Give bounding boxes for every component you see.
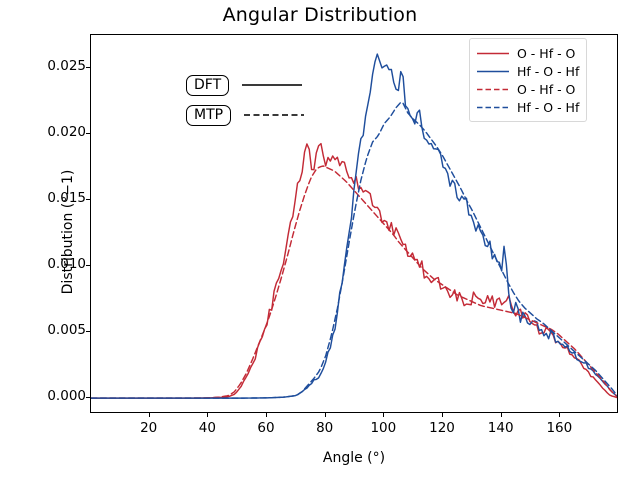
legend-line-swatch [476, 101, 510, 114]
legend-label: O - Hf - O [517, 82, 575, 97]
method-line-swatch [243, 109, 305, 121]
y-tick-label: 0.010 [0, 256, 86, 272]
x-tick-mark [266, 413, 267, 417]
method-label-box: MTP [186, 105, 231, 126]
x-tick-label: 160 [529, 420, 589, 436]
y-tick-label: 0.015 [0, 190, 86, 206]
y-tick-label: 0.000 [0, 388, 86, 404]
x-tick-mark [149, 413, 150, 417]
x-tick-label: 80 [295, 420, 355, 436]
method-legend: DFTMTP [186, 70, 305, 130]
x-tick-label: 100 [353, 420, 413, 436]
x-axis-label: Angle (°) [90, 450, 618, 466]
method-label-box: DFT [186, 75, 229, 96]
x-tick-mark [383, 413, 384, 417]
y-tick-label: 0.025 [0, 58, 86, 74]
legend-entry[interactable]: Hf - O - Hf [476, 98, 579, 116]
legend-label: Hf - O - Hf [517, 100, 579, 115]
x-tick-mark [501, 413, 502, 417]
legend-line-swatch [476, 83, 510, 96]
x-tick-label: 120 [412, 420, 472, 436]
y-tick-label: 0.005 [0, 322, 86, 338]
x-tick-mark [442, 413, 443, 417]
method-line-swatch [241, 79, 303, 91]
series-line-mtp-hfohf [91, 102, 618, 398]
legend-entry[interactable]: O - Hf - O [476, 80, 579, 98]
x-tick-mark [559, 413, 560, 417]
legend-entry[interactable]: O - Hf - O [476, 44, 579, 62]
legend-line-swatch [476, 65, 510, 78]
series-legend: O - Hf - OHf - O - HfO - Hf - OHf - O - … [469, 38, 587, 122]
x-tick-mark [207, 413, 208, 417]
x-tick-label: 60 [236, 420, 296, 436]
method-legend-entry[interactable]: MTP [186, 100, 305, 130]
y-tick-label: 0.020 [0, 124, 86, 140]
x-tick-label: 20 [119, 420, 179, 436]
legend-entry[interactable]: Hf - O - Hf [476, 62, 579, 80]
legend-label: O - Hf - O [517, 46, 575, 61]
x-tick-mark [325, 413, 326, 417]
angular-distribution-figure: Angular Distribution Distribution (°−1) … [0, 0, 640, 480]
y-axis-label: Distribution (°−1) [60, 72, 76, 392]
page-title: Angular Distribution [0, 4, 640, 26]
method-legend-entry[interactable]: DFT [186, 70, 305, 100]
series-line-mtp-ohfo [91, 166, 618, 398]
x-tick-label: 140 [471, 420, 531, 436]
x-tick-label: 40 [177, 420, 237, 436]
legend-line-swatch [476, 47, 510, 60]
legend-label: Hf - O - Hf [517, 64, 579, 79]
